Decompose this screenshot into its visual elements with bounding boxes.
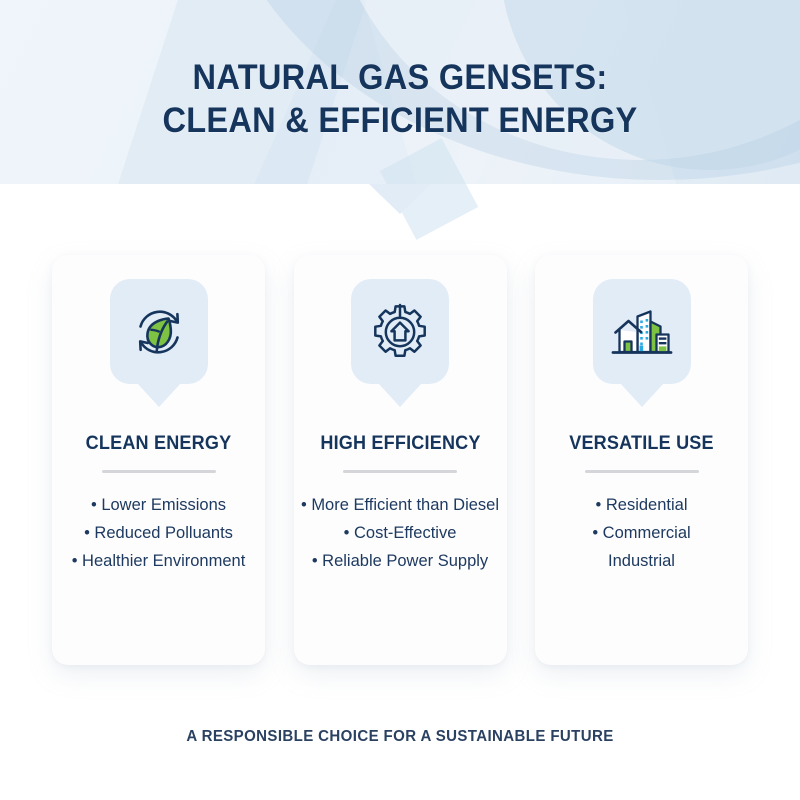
- icon-badge-pointer: [137, 383, 181, 407]
- card-divider: [343, 470, 457, 473]
- icon-badge-pointer: [620, 383, 664, 407]
- page-title-line-2: CLEAN & EFFICIENT ENERGY: [28, 100, 772, 143]
- list-item: • Cost-Effective: [286, 519, 515, 547]
- icon-badge: [110, 279, 208, 409]
- header-notch-arrow: [369, 184, 431, 214]
- card-title: HIGH EFFICIENCY: [299, 433, 501, 455]
- list-item: • Residential: [527, 491, 756, 519]
- buildings-icon: [593, 279, 691, 384]
- feature-card-clean-energy[interactable]: CLEAN ENERGY • Lower Emissions • Reduced…: [52, 255, 265, 665]
- list-item: Industrial: [527, 547, 756, 575]
- feature-card-high-efficiency[interactable]: HIGH EFFICIENCY • More Efficient than Di…: [294, 255, 507, 665]
- page-title: NATURAL GAS GENSETS: CLEAN & EFFICIENT E…: [28, 0, 772, 142]
- card-bullet-list: • Residential • Commercial Industrial: [527, 491, 756, 575]
- icon-badge-pointer: [378, 383, 422, 407]
- list-item: • Commercial: [527, 519, 756, 547]
- list-item: • Lower Emissions: [44, 491, 273, 519]
- list-item: • More Efficient than Diesel: [286, 491, 515, 519]
- page-title-line-1: NATURAL GAS GENSETS:: [28, 57, 772, 100]
- footer-tagline: A RESPONSIBLE CHOICE FOR A SUSTAINABLE F…: [12, 728, 788, 746]
- list-item: • Reliable Power Supply: [286, 547, 515, 575]
- list-item: • Healthier Environment: [44, 547, 273, 575]
- card-divider: [102, 470, 216, 473]
- icon-badge: [351, 279, 449, 409]
- feature-card-list: CLEAN ENERGY • Lower Emissions • Reduced…: [52, 255, 748, 665]
- gear-arrow-icon: [351, 279, 449, 384]
- icon-badge: [593, 279, 691, 409]
- card-divider: [585, 470, 699, 473]
- leaf-recycle-icon: [110, 279, 208, 384]
- card-bullet-list: • Lower Emissions • Reduced Polluants • …: [44, 491, 273, 575]
- card-bullet-list: • More Efficient than Diesel • Cost-Effe…: [286, 491, 515, 575]
- card-title: VERSATILE USE: [540, 433, 742, 455]
- header-banner: NATURAL GAS GENSETS: CLEAN & EFFICIENT E…: [0, 0, 800, 184]
- card-title: CLEAN ENERGY: [57, 433, 259, 455]
- feature-card-versatile-use[interactable]: VERSATILE USE • Residential • Commercial…: [535, 255, 748, 665]
- list-item: • Reduced Polluants: [44, 519, 273, 547]
